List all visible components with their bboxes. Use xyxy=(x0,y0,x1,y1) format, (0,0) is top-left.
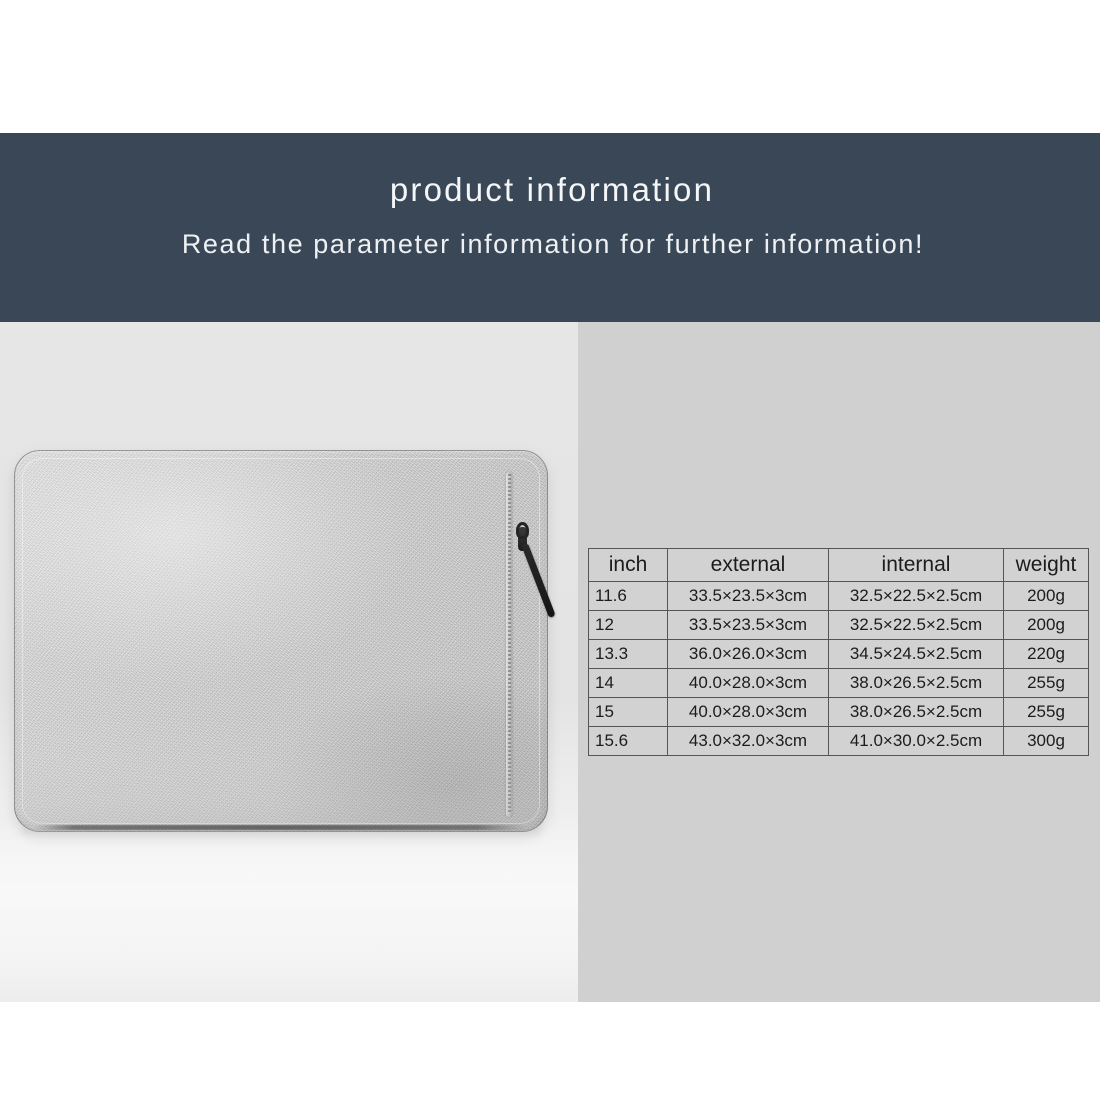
cell-weight: 255g xyxy=(1004,669,1089,698)
cell-weight: 255g xyxy=(1004,698,1089,727)
bottom-white-margin xyxy=(0,1002,1100,1100)
spec-table: inch external internal weight 11.6 33.5×… xyxy=(588,548,1089,756)
cell-weight: 200g xyxy=(1004,582,1089,611)
photo-stage xyxy=(0,322,578,1002)
cell-external: 40.0×28.0×3cm xyxy=(668,698,829,727)
cell-internal: 38.0×26.5×2.5cm xyxy=(829,669,1004,698)
column-header-inch: inch xyxy=(589,549,668,582)
cell-weight: 220g xyxy=(1004,640,1089,669)
product-photo-panel xyxy=(0,322,578,1002)
laptop-sleeve-body xyxy=(14,450,548,832)
cell-inch: 12 xyxy=(589,611,668,640)
column-header-internal: internal xyxy=(829,549,1004,582)
page-subtitle: Read the parameter information for furth… xyxy=(0,229,1100,260)
top-white-margin xyxy=(0,0,1100,133)
cell-inch: 15 xyxy=(589,698,668,727)
cell-external: 36.0×26.0×3cm xyxy=(668,640,829,669)
floor-glow xyxy=(0,822,578,1002)
cell-external: 40.0×28.0×3cm xyxy=(668,669,829,698)
cell-external: 33.5×23.5×3cm xyxy=(668,582,829,611)
cell-internal: 38.0×26.5×2.5cm xyxy=(829,698,1004,727)
table-row: 11.6 33.5×23.5×3cm 32.5×22.5×2.5cm 200g xyxy=(589,582,1089,611)
cell-internal: 34.5×24.5×2.5cm xyxy=(829,640,1004,669)
cell-inch: 11.6 xyxy=(589,582,668,611)
table-row: 12 33.5×23.5×3cm 32.5×22.5×2.5cm 200g xyxy=(589,611,1089,640)
cell-internal: 32.5×22.5×2.5cm xyxy=(829,611,1004,640)
column-header-external: external xyxy=(668,549,829,582)
cell-inch: 13.3 xyxy=(589,640,668,669)
page-title: product information xyxy=(0,171,1100,209)
table-header-row: inch external internal weight xyxy=(589,549,1089,582)
banner: product information Read the parameter i… xyxy=(0,133,1100,322)
cell-external: 43.0×32.0×3cm xyxy=(668,727,829,756)
table-row: 15.6 43.0×32.0×3cm 41.0×30.0×2.5cm 300g xyxy=(589,727,1089,756)
cell-internal: 32.5×22.5×2.5cm xyxy=(829,582,1004,611)
zipper-pull-loop-icon xyxy=(516,522,529,539)
cell-external: 33.5×23.5×3cm xyxy=(668,611,829,640)
cell-inch: 15.6 xyxy=(589,727,668,756)
spec-table-container: inch external internal weight 11.6 33.5×… xyxy=(588,548,1088,756)
cell-internal: 41.0×30.0×2.5cm xyxy=(829,727,1004,756)
sleeve-bottom-seam xyxy=(34,825,526,830)
product-information-page: product information Read the parameter i… xyxy=(0,0,1100,1100)
zipper-teeth xyxy=(508,474,511,814)
table-row: 13.3 36.0×26.0×3cm 34.5×24.5×2.5cm 220g xyxy=(589,640,1089,669)
cell-weight: 300g xyxy=(1004,727,1089,756)
table-row: 15 40.0×28.0×3cm 38.0×26.5×2.5cm 255g xyxy=(589,698,1089,727)
content-band: inch external internal weight 11.6 33.5×… xyxy=(0,322,1100,1002)
column-header-weight: weight xyxy=(1004,549,1089,582)
cell-inch: 14 xyxy=(589,669,668,698)
table-row: 14 40.0×28.0×3cm 38.0×26.5×2.5cm 255g xyxy=(589,669,1089,698)
cell-weight: 200g xyxy=(1004,611,1089,640)
